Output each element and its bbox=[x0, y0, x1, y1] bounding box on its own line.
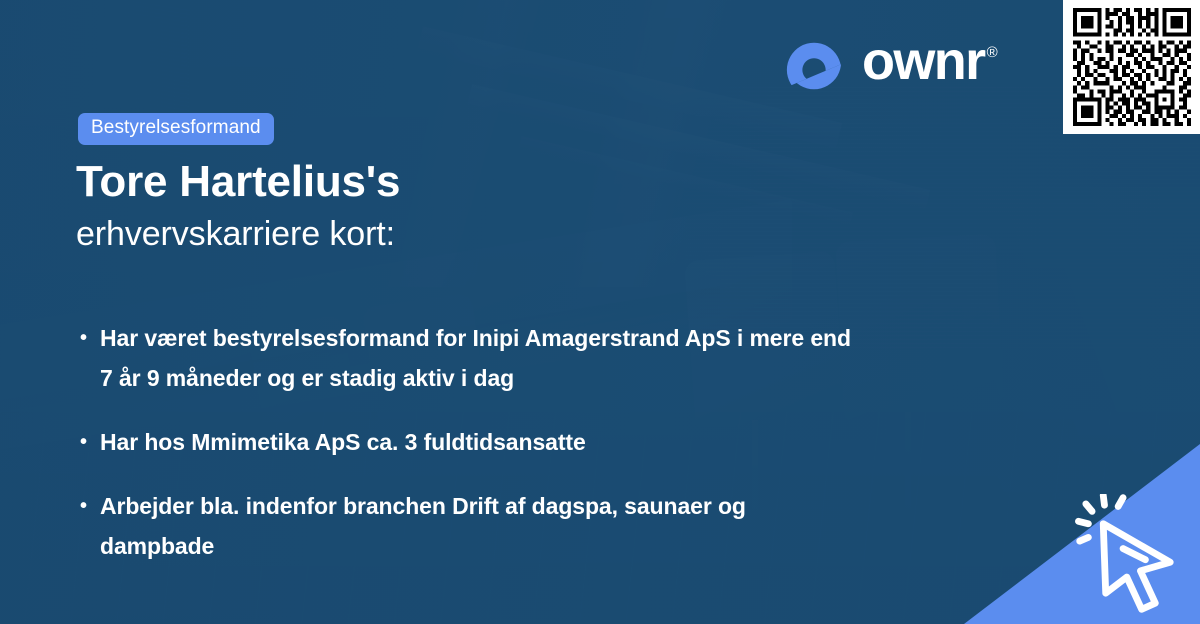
career-summary-card: Bestyrelsesformand Tore Hartelius's erhv… bbox=[0, 0, 1200, 624]
ownr-wordmark: ownr® bbox=[862, 34, 994, 102]
page-title-line-2: erhvervskarriere kort: bbox=[76, 208, 400, 260]
list-item: • Har hos Mmimetika ApS ca. 3 fuldtidsan… bbox=[80, 422, 960, 462]
page-title: Tore Hartelius's erhvervskarriere kort: bbox=[76, 156, 400, 260]
qr-code-panel[interactable] bbox=[1063, 0, 1200, 134]
corner-decoration bbox=[964, 444, 1200, 624]
list-item: • Arbejder bla. indenfor branchen Drift … bbox=[80, 486, 960, 566]
list-item: • Har været bestyrelsesformand for Inipi… bbox=[80, 318, 960, 398]
ownr-logo[interactable]: ownr® bbox=[783, 32, 994, 100]
page-title-line-1: Tore Hartelius's bbox=[76, 156, 400, 208]
bullet-marker-icon: • bbox=[80, 422, 100, 462]
list-item-text: Arbejder bla. indenfor branchen Drift af… bbox=[100, 486, 860, 566]
qr-code-icon bbox=[1073, 8, 1191, 126]
bullet-marker-icon: • bbox=[80, 486, 100, 526]
ownr-wordmark-text: ownr bbox=[862, 31, 985, 91]
list-item-text: Har været bestyrelsesformand for Inipi A… bbox=[100, 318, 860, 398]
click-cursor-icon bbox=[1070, 494, 1196, 618]
role-badge: Bestyrelsesformand bbox=[78, 113, 274, 145]
career-facts-list: • Har været bestyrelsesformand for Inipi… bbox=[80, 318, 960, 590]
ownr-circle-logo-icon bbox=[783, 35, 845, 97]
registered-trademark-icon: ® bbox=[987, 44, 996, 61]
list-item-text: Har hos Mmimetika ApS ca. 3 fuldtidsansa… bbox=[100, 422, 586, 462]
bullet-marker-icon: • bbox=[80, 318, 100, 358]
